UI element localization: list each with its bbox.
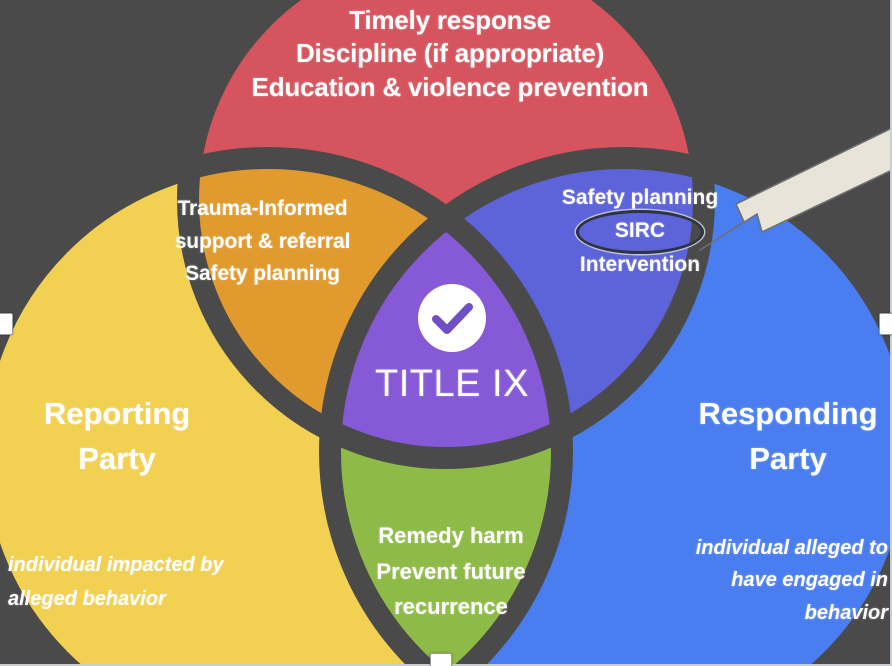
- resize-handle-left[interactable]: [0, 313, 13, 335]
- venn-diagram-graphic: [0, 0, 892, 666]
- resize-handle-right[interactable]: [879, 313, 892, 335]
- slide-canvas: Timely response Discipline (if appropria…: [0, 0, 892, 666]
- resize-handle-bottom[interactable]: [430, 653, 452, 666]
